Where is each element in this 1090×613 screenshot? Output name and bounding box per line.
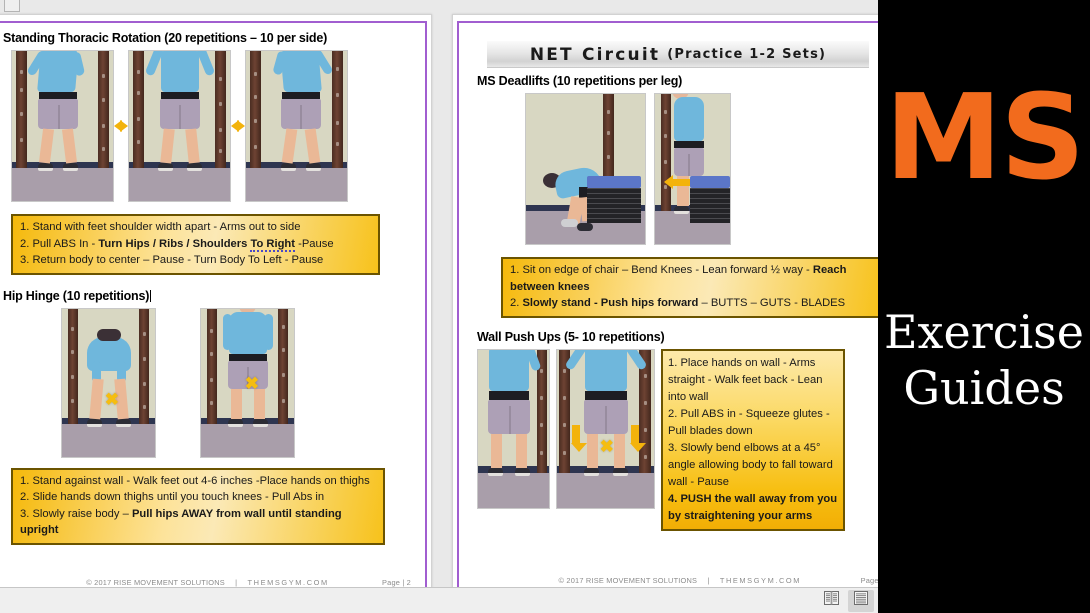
photo-strip: ✖ — [477, 349, 655, 509]
instruction-line: 1. Sit on edge of chair – Bend Knees - L… — [510, 262, 872, 295]
exercise-photo: ✖ — [61, 308, 156, 458]
scroll-up-control[interactable] — [4, 0, 20, 12]
instruction-line: 3. Slowly raise body – Pull hips AWAY fr… — [20, 506, 376, 539]
x-marker-icon: ✖ — [105, 391, 119, 408]
instruction-line: 2. Slowly stand - Push hips forward – BU… — [510, 295, 872, 312]
page-footer: © 2017 RISE MOVEMENT SOLUTIONS | THEMSGY… — [0, 578, 425, 587]
instruction-box: 1. Sit on edge of chair – Bend Knees - L… — [501, 257, 878, 318]
x-marker-icon: ✖ — [600, 438, 614, 455]
instruction-line: 3. Slowly bend elbows at a 45° angle all… — [668, 440, 838, 491]
instruction-line: 4. PUSH the wall away from you by straig… — [668, 491, 838, 525]
photo-strip: ✖ — [61, 308, 415, 458]
panel-subtitle-line2: Guides — [884, 360, 1084, 416]
footer-text: © 2017 RISE MOVEMENT SOLUTIONS | THEMSGY… — [0, 578, 382, 587]
instruction-line: 2. Pull ABS In - Turn Hips / Ribs / Shou… — [20, 236, 371, 253]
exercise-photo: ✖ — [200, 308, 295, 458]
pdf-viewer[interactable]: Standing Thoracic Rotation (20 repetitio… — [0, 0, 878, 613]
step-riser — [587, 176, 641, 223]
exercise-photo — [654, 93, 731, 245]
exercise-photo — [525, 93, 646, 245]
section-standing-thoracic-rotation: Standing Thoracic Rotation (20 repetitio… — [3, 31, 415, 275]
page-number: Page | — [861, 576, 878, 585]
section-hip-hinge: Hip Hinge (10 repetitions) — [3, 289, 415, 545]
instruction-line: 2. Slide hands down thighs until you tou… — [20, 489, 376, 506]
banner-subtitle: (Practice 1-2 Sets) — [667, 47, 826, 62]
net-circuit-banner: NET Circuit (Practice 1-2 Sets) — [487, 41, 869, 68]
banner-title: NET Circuit — [530, 45, 660, 65]
arrow-gap — [114, 50, 128, 202]
instruction-line: 1. Place hands on wall - Arms straight -… — [668, 355, 838, 406]
two-page-view-button[interactable] — [818, 590, 844, 612]
section-ms-deadlifts: MS Deadlifts (10 repetitions per leg) — [477, 74, 875, 318]
exercise-title: Hip Hinge (10 repetitions) — [3, 289, 415, 303]
page-number: Page | 2 — [382, 578, 425, 587]
viewer-bottom-toolbar[interactable] — [0, 587, 878, 613]
step-riser — [690, 176, 730, 223]
exercise-photo — [477, 349, 550, 509]
page-left-border: Standing Thoracic Rotation (20 repetitio… — [0, 21, 427, 598]
exercise-title: MS Deadlifts (10 repetitions per leg) — [477, 74, 875, 88]
instruction-box: 1. Stand against wall - Walk feet out 4-… — [11, 468, 385, 545]
book-open-icon — [824, 591, 839, 610]
instruction-line: 1. Stand with feet shoulder width apart … — [20, 219, 371, 236]
page-right-border: NET Circuit (Practice 1-2 Sets) MS Deadl… — [457, 21, 878, 598]
exercise-photo — [11, 50, 114, 202]
arrow-gap — [231, 50, 245, 202]
double-arrow-icon — [114, 120, 128, 132]
exercise-title: Wall Push Ups (5- 10 repetitions) — [477, 330, 875, 344]
single-page-icon — [854, 591, 868, 610]
instruction-line: 1. Stand against wall - Walk feet out 4-… — [20, 473, 376, 490]
instruction-box: 1. Place hands on wall - Arms straight -… — [661, 349, 845, 531]
text-cursor — [150, 290, 151, 302]
photo-strip — [11, 50, 415, 202]
exercise-title: Standing Thoracic Rotation (20 repetitio… — [3, 31, 415, 45]
page-footer: © 2017 RISE MOVEMENT SOLUTIONS | THEMSGY… — [459, 576, 878, 585]
instruction-box: 1. Stand with feet shoulder width apart … — [11, 214, 380, 275]
panel-subtitle-line1: Exercise — [884, 304, 1084, 360]
instruction-line: 3. Return body to center – Pause - Turn … — [20, 252, 371, 269]
viewer-top-strip — [0, 0, 878, 14]
single-page-view-button[interactable] — [848, 590, 874, 612]
instruction-line: 2. Pull ABS in - Squeeze glutes - Pull b… — [668, 406, 838, 440]
exercise-photo — [128, 50, 231, 202]
down-arrow-icon — [571, 425, 581, 452]
section-wall-push-ups: Wall Push Ups (5- 10 repetitions) — [477, 330, 875, 531]
document-page-right[interactable]: NET Circuit (Practice 1-2 Sets) MS Deadl… — [452, 14, 878, 598]
down-arrow-icon — [630, 425, 640, 452]
exercise-photo: ✖ — [556, 349, 655, 509]
exercise-photo — [245, 50, 348, 202]
branding-panel: MS Exercise Guides — [878, 0, 1090, 613]
photo-strip — [525, 93, 875, 245]
double-arrow-icon — [231, 120, 245, 132]
panel-subtitle: Exercise Guides — [884, 304, 1084, 416]
x-marker-icon: ✖ — [245, 375, 259, 392]
footer-text: © 2017 RISE MOVEMENT SOLUTIONS | THEMSGY… — [459, 576, 861, 585]
ms-logo: MS — [885, 78, 1083, 196]
document-page-left[interactable]: Standing Thoracic Rotation (20 repetitio… — [0, 14, 432, 598]
